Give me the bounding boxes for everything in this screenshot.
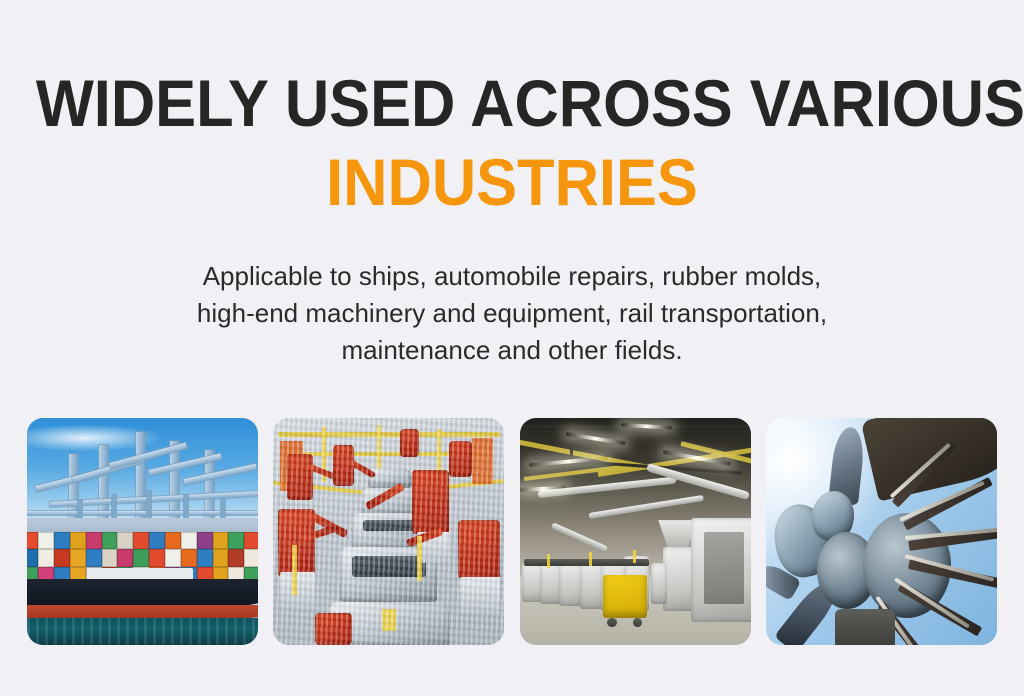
description-line-3: maintenance and other fields. [92,332,932,369]
industrial-plant-interior-image [520,418,751,645]
container-ship-port-image [27,418,258,645]
description-line-1: Applicable to ships, automobile repairs,… [92,258,932,295]
gallery-item-radial-aircraft-engine [766,418,997,645]
gallery-item-industrial-plant-interior [520,418,751,645]
page-title: WIDELY USED ACROSS VARIOUS [36,68,988,138]
gallery-item-container-ship-port [27,418,258,645]
industries-banner: WIDELY USED ACROSS VARIOUS INDUSTRIES Ap… [0,0,1024,696]
description-text: Applicable to ships, automobile repairs,… [92,258,932,369]
page-title-accent: INDUSTRIES [36,146,988,218]
automotive-robot-assembly-line-image [273,418,504,645]
description-line-2: high-end machinery and equipment, rail t… [92,295,932,332]
gallery-item-automotive-robot-assembly-line [273,418,504,645]
radial-aircraft-engine-image [766,418,997,645]
industry-image-gallery [27,418,997,645]
heading-block: WIDELY USED ACROSS VARIOUS INDUSTRIES [0,68,1024,218]
